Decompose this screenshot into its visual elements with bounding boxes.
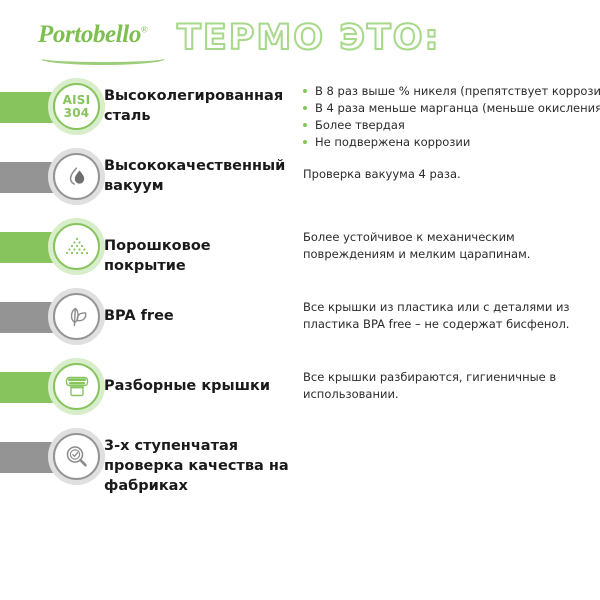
water-drop-glyph — [64, 164, 90, 190]
feature-title: Высоколегированная сталь — [104, 86, 294, 126]
feature-row: 3-х ступенчатая проверка качества на фаб… — [0, 428, 600, 498]
powder-dots-glyph — [63, 235, 91, 259]
feature-description: Все крышки из пластика или с деталями из… — [303, 299, 599, 333]
feature-description: Более устойчивое к механическим поврежде… — [303, 229, 599, 263]
feature-row: BPA free Все крышки из пластика или с де… — [0, 288, 600, 358]
list-item: В 8 раз выше % никеля (препятствует корр… — [303, 83, 599, 99]
water-drop-icon — [53, 153, 100, 200]
leaf-icon — [53, 293, 100, 340]
powder-dots-icon — [53, 223, 100, 270]
feature-row: Разборные крышки Все крышки разбираются,… — [0, 358, 600, 428]
page-title: ТЕРМО ЭТО: — [177, 18, 441, 58]
row-icon-badge — [48, 218, 105, 275]
header: Portobello® ТЕРМО ЭТО: — [0, 0, 600, 78]
feature-title: Высококачественный вакуум — [104, 156, 294, 196]
feature-list: AISI 304 Высоколегированная сталь В 8 ра… — [0, 78, 600, 498]
registered-trademark-icon: ® — [141, 25, 147, 35]
feature-description: Все крышки разбираются, гигиеничные в ис… — [303, 369, 599, 403]
lid-parts-glyph — [63, 374, 91, 400]
brand-logo: Portobello® — [38, 22, 168, 66]
feature-row: AISI 304 Высоколегированная сталь В 8 ра… — [0, 78, 600, 148]
magnifier-check-icon — [53, 433, 100, 480]
list-item: В 4 раза меньше марганца (меньше окислен… — [303, 100, 599, 116]
aisi-badge-text: AISI 304 — [63, 94, 91, 120]
feature-title: Порошковое покрытие — [104, 236, 294, 276]
feature-row: Порошковое покрытие Более устойчивое к м… — [0, 218, 600, 288]
brand-name: Portobello — [38, 21, 141, 48]
brand-logo-text: Portobello® — [38, 22, 168, 47]
row-icon-badge — [48, 428, 105, 485]
list-item: Более твердая — [303, 117, 599, 133]
leaf-glyph — [63, 304, 91, 330]
row-icon-badge — [48, 358, 105, 415]
aisi-label: AISI — [63, 94, 91, 107]
feature-title: BPA free — [104, 306, 294, 326]
feature-title: Разборные крышки — [104, 376, 294, 396]
lid-parts-icon — [53, 363, 100, 410]
aisi-304-badge-icon: AISI 304 — [53, 83, 100, 130]
feature-bullets: В 8 раз выше % никеля (препятствует корр… — [303, 83, 599, 151]
feature-title: 3-х ступенчатая проверка качества на фаб… — [104, 436, 294, 496]
row-icon-badge: AISI 304 — [48, 78, 105, 135]
magnifier-check-glyph — [63, 443, 91, 471]
aisi-grade: 304 — [63, 107, 91, 120]
feature-description: Проверка вакуума 4 раза. — [303, 166, 599, 183]
logo-swoosh-icon — [40, 52, 166, 65]
feature-row: Высококачественный вакуум Проверка вакуу… — [0, 148, 600, 218]
row-icon-badge — [48, 288, 105, 345]
row-icon-badge — [48, 148, 105, 205]
